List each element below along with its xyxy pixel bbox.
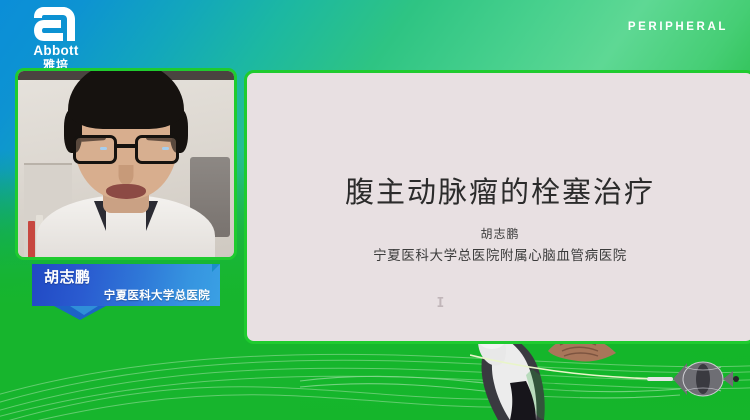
slide-presenter-name: 胡志鹏 — [247, 225, 750, 242]
slide-affiliation: 宁夏医科大学总医院附属心脑血管病医院 — [247, 244, 750, 264]
speaker-video-feed — [18, 71, 234, 257]
abbott-logo: Abbott 雅培 — [20, 6, 92, 73]
speaker-person — [42, 82, 210, 257]
vascular-plug-icon — [645, 353, 745, 409]
slide-title: 腹主动脉瘤的栓塞治疗 — [247, 169, 750, 211]
webinar-presentation-screen: Abbott 雅培 PERIPHERAL — [0, 0, 750, 420]
speaker-name: 胡志鹏 — [44, 266, 91, 287]
speaker-video-panel[interactable] — [15, 68, 237, 260]
footer-graphic — [0, 335, 750, 420]
ribbon-tail-inner — [70, 306, 98, 315]
abbott-wordmark: Abbott — [20, 44, 92, 58]
speaker-organization: 宁夏医科大学总医院 — [104, 287, 210, 303]
ribbon-corner-fold — [212, 264, 220, 272]
eyeglasses — [73, 135, 179, 165]
abbott-a-logo-icon — [33, 6, 79, 42]
text-cursor-icon — [437, 297, 444, 307]
speaker-name-banner: 胡志鹏 宁夏医科大学总医院 — [32, 264, 220, 306]
section-label-peripheral: PERIPHERAL — [628, 21, 728, 33]
presentation-slide-panel[interactable]: 腹主动脉瘤的栓塞治疗 胡志鹏 宁夏医科大学总医院附属心脑血管病医院 — [244, 70, 750, 344]
